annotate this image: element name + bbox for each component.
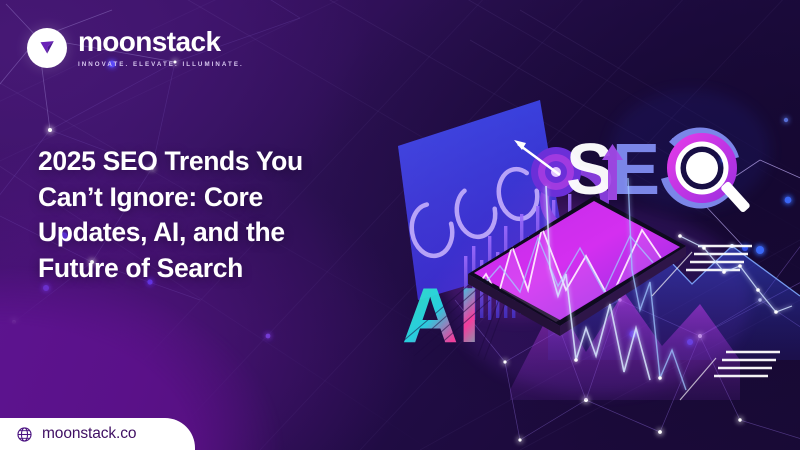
website-url-pill[interactable]: moonstack.co — [0, 418, 195, 450]
website-url-text: moonstack.co — [42, 425, 136, 443]
seo-wordmark: S E — [514, 117, 751, 230]
logo[interactable]: moonstack INNOVATE. ELEVATE. ILLUMINATE. — [27, 28, 244, 68]
headline-line-3: Updates, AI, and the — [38, 217, 285, 247]
headline-line-2: Can’t Ignore: Core — [38, 182, 263, 212]
page-title: 2025 SEO Trends You Can’t Ignore: Core U… — [38, 144, 388, 286]
headline-line-1: 2025 SEO Trends You — [38, 146, 303, 176]
svg-text:S: S — [566, 130, 614, 210]
globe-icon — [16, 426, 33, 443]
svg-text:AI: AI — [402, 271, 480, 359]
logo-mark — [27, 28, 67, 68]
svg-text:E: E — [612, 130, 660, 210]
brand-tagline: INNOVATE. ELEVATE. ILLUMINATE. — [78, 61, 244, 68]
cursor-arrow-icon — [37, 38, 57, 58]
headline-line-4: Future of Search — [38, 253, 243, 283]
brand-name: moonstack — [78, 28, 244, 56]
seo-ai-illustration: S E — [380, 60, 800, 450]
seo-blog-banner: S E — [0, 0, 800, 450]
